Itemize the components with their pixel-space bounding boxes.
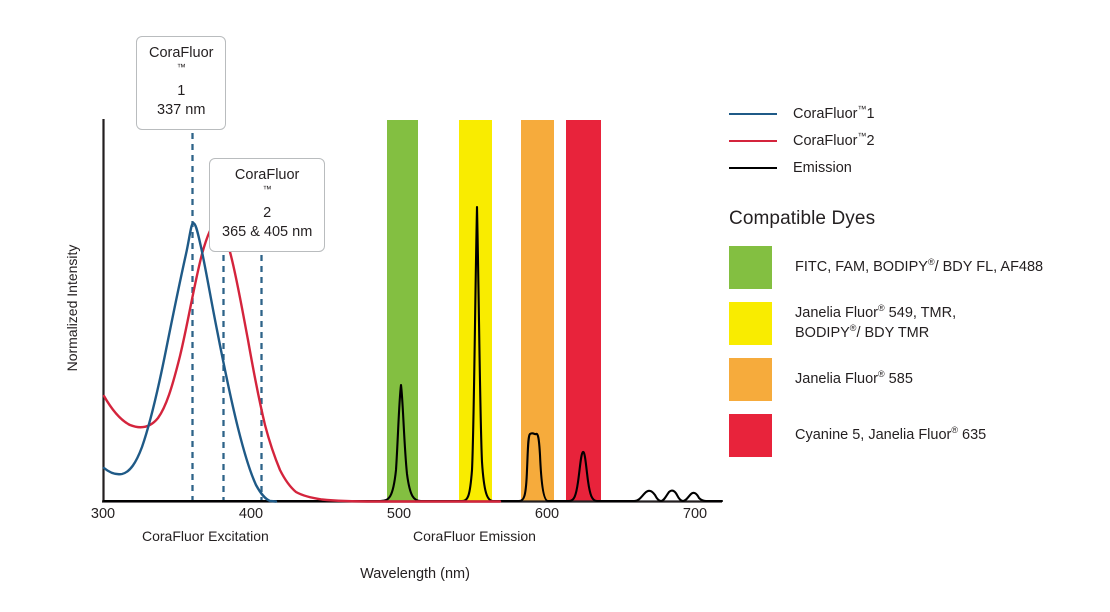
dye-row-orange: Janelia Fluor® 585	[729, 358, 1110, 401]
dye-swatch-yellow	[729, 302, 772, 345]
caption-emission: CoraFluor Emission	[413, 528, 536, 544]
callout-cf1-line1: CoraFluor™1	[149, 44, 213, 101]
callout-cf2-line2: 365 & 405 nm	[222, 223, 312, 242]
x-tick-500: 500	[369, 506, 429, 522]
dye-label-orange: Janelia Fluor® 585	[795, 370, 913, 390]
dye-swatch-green	[729, 246, 772, 289]
legend-label-corafluor1: CoraFluor™1	[793, 106, 875, 122]
callout-corafluor1: CoraFluor™1 337 nm	[136, 36, 226, 130]
dye-swatch-red	[729, 414, 772, 457]
trademark-symbol: ™	[263, 184, 272, 194]
trademark-symbol: ™	[177, 62, 186, 72]
legend-line-icon-corafluor1	[729, 113, 777, 115]
legend-label-corafluor2: CoraFluor™2	[793, 133, 875, 149]
plot-area: CoraFluor™1 337 nm CoraFluor™2 365 & 405…	[0, 0, 730, 612]
dye-label-red: Cyanine 5, Janelia Fluor® 635	[795, 426, 986, 446]
legend-label-emission: Emission	[793, 160, 852, 176]
y-axis-title: Normalized Intensity	[64, 218, 80, 398]
dye-swatch-orange	[729, 358, 772, 401]
dye-green-line1: FITC, FAM, BODIPY®/ BDY FL, AF488	[795, 259, 1043, 275]
callout-cf1-line2: 337 nm	[149, 101, 213, 120]
dye-red-line1: Cyanine 5, Janelia Fluor® 635	[795, 427, 986, 443]
dye-band-group	[387, 120, 601, 502]
dye-band-red	[566, 120, 601, 502]
x-tick-600: 600	[517, 506, 577, 522]
series-legend: CoraFluor™1 CoraFluor™2 Emission	[729, 100, 1110, 181]
registered-symbol: ®	[878, 303, 885, 313]
registered-symbol: ®	[878, 369, 885, 379]
compatible-dyes-list: FITC, FAM, BODIPY®/ BDY FL, AF488 Janeli…	[729, 246, 1110, 457]
dye-yellow-line2: BODIPY®/ BDY TMR	[795, 324, 956, 344]
callout-cf2-line1: CoraFluor™2	[222, 166, 312, 223]
x-tick-700: 700	[665, 506, 725, 522]
dye-band-orange	[521, 120, 554, 502]
legend-panel: CoraFluor™1 CoraFluor™2 Emission Compati…	[729, 100, 1110, 470]
dye-band-green	[387, 120, 418, 502]
dye-row-red: Cyanine 5, Janelia Fluor® 635	[729, 414, 1110, 457]
compatible-dyes-title: Compatible Dyes	[729, 208, 1110, 230]
dye-row-green: FITC, FAM, BODIPY®/ BDY FL, AF488	[729, 246, 1110, 289]
registered-symbol: ®	[928, 257, 935, 267]
registered-symbol: ®	[951, 425, 958, 435]
corafluor1-excitation-curve	[104, 223, 276, 502]
dye-label-green: FITC, FAM, BODIPY®/ BDY FL, AF488	[795, 258, 1043, 278]
legend-item-corafluor1: CoraFluor™1	[729, 100, 1110, 127]
x-tick-400: 400	[221, 506, 281, 522]
x-axis-title: Wavelength (nm)	[290, 566, 540, 582]
legend-line-icon-corafluor2	[729, 140, 777, 142]
dye-row-yellow: Janelia Fluor® 549, TMR, BODIPY®/ BDY TM…	[729, 302, 1110, 345]
legend-line-icon-emission	[729, 167, 777, 169]
callout-corafluor2: CoraFluor™2 365 & 405 nm	[209, 158, 325, 252]
excitation-marker-lines	[193, 78, 262, 501]
dye-yellow-line1: Janelia Fluor® 549, TMR,	[795, 304, 956, 324]
dye-label-yellow: Janelia Fluor® 549, TMR, BODIPY®/ BDY TM…	[795, 304, 956, 343]
dye-orange-line1: Janelia Fluor® 585	[795, 371, 913, 387]
legend-item-emission: Emission	[729, 154, 1110, 181]
legend-item-corafluor2: CoraFluor™2	[729, 127, 1110, 154]
registered-symbol: ®	[850, 323, 857, 333]
caption-excitation: CoraFluor Excitation	[142, 528, 269, 544]
fluorescence-spectra-figure: CoraFluor™1 337 nm CoraFluor™2 365 & 405…	[0, 0, 1110, 612]
x-tick-300: 300	[73, 506, 133, 522]
